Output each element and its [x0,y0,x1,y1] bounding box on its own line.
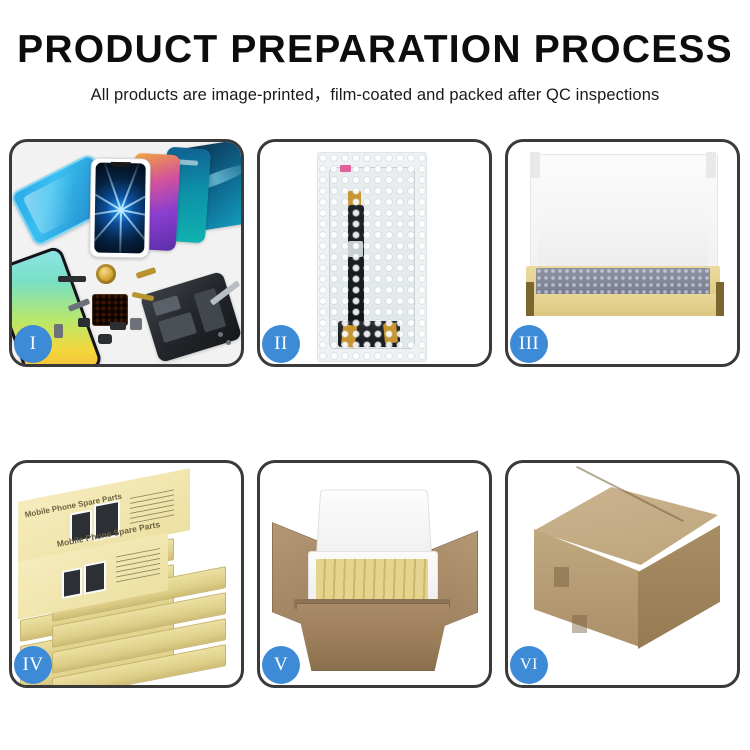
screw-part-b [226,340,231,345]
carton-tape-patch-b [572,615,587,633]
bubble-wrap-bag [317,152,427,362]
speaker-part [58,276,86,282]
step-1-badge: I [14,325,52,363]
kraft-box-front [530,294,716,316]
flex-cable-part-a [136,267,157,279]
screw-part-a [218,332,223,337]
gold-coil-part [96,264,116,284]
box-screen-thumb-a [62,567,82,599]
foam-tab-left [530,152,540,178]
button-part [98,334,112,344]
small-chip-part-a [78,318,90,327]
step-2-badge: II [262,325,300,363]
pink-qc-label [340,165,351,172]
phone-back-housing [140,271,241,363]
kraft-box-end-right [716,282,724,316]
step-3-badge: III [510,325,548,363]
page-header: PRODUCT PREPARATION PROCESS All products… [0,0,750,105]
process-step-5[interactable]: V [257,460,492,688]
grey-foam-padding [536,268,710,296]
page-subtitle: All products are image-printed，film-coat… [0,81,750,105]
step-5-badge: V [262,646,300,684]
box-spec-lines-a [116,548,160,583]
yellow-boxes-inside [316,559,428,603]
page-title: PRODUCT PREPARATION PROCESS [0,30,750,71]
process-step-grid: I II [9,139,741,688]
small-chip-part-b [110,322,126,330]
white-bezel-phone [89,157,151,258]
foam-fill [538,206,708,268]
process-step-3[interactable]: III [505,139,740,367]
sim-tray-part [54,324,63,338]
carton-tape-patch-a [554,567,569,587]
process-step-1[interactable]: I [9,139,244,367]
process-step-4[interactable]: Mobile Phone Spare Parts Mobile Phone Sp… [9,460,244,688]
kraft-box-end-left [526,282,534,316]
retail-box-stack: Mobile Phone Spare Parts Mobile Phone Sp… [18,485,240,685]
battery-connector-part [130,318,142,330]
step-4-badge: IV [14,646,52,684]
carton-front-wall [296,603,450,671]
bubble-texture [318,153,426,361]
step-6-badge: VI [510,646,548,684]
process-step-6[interactable]: VI [505,460,740,688]
box-screen-thumb-b [84,560,106,594]
process-step-2[interactable]: II [257,139,492,367]
box-spec-lines-b [130,489,174,524]
foam-tab-right [706,152,716,178]
